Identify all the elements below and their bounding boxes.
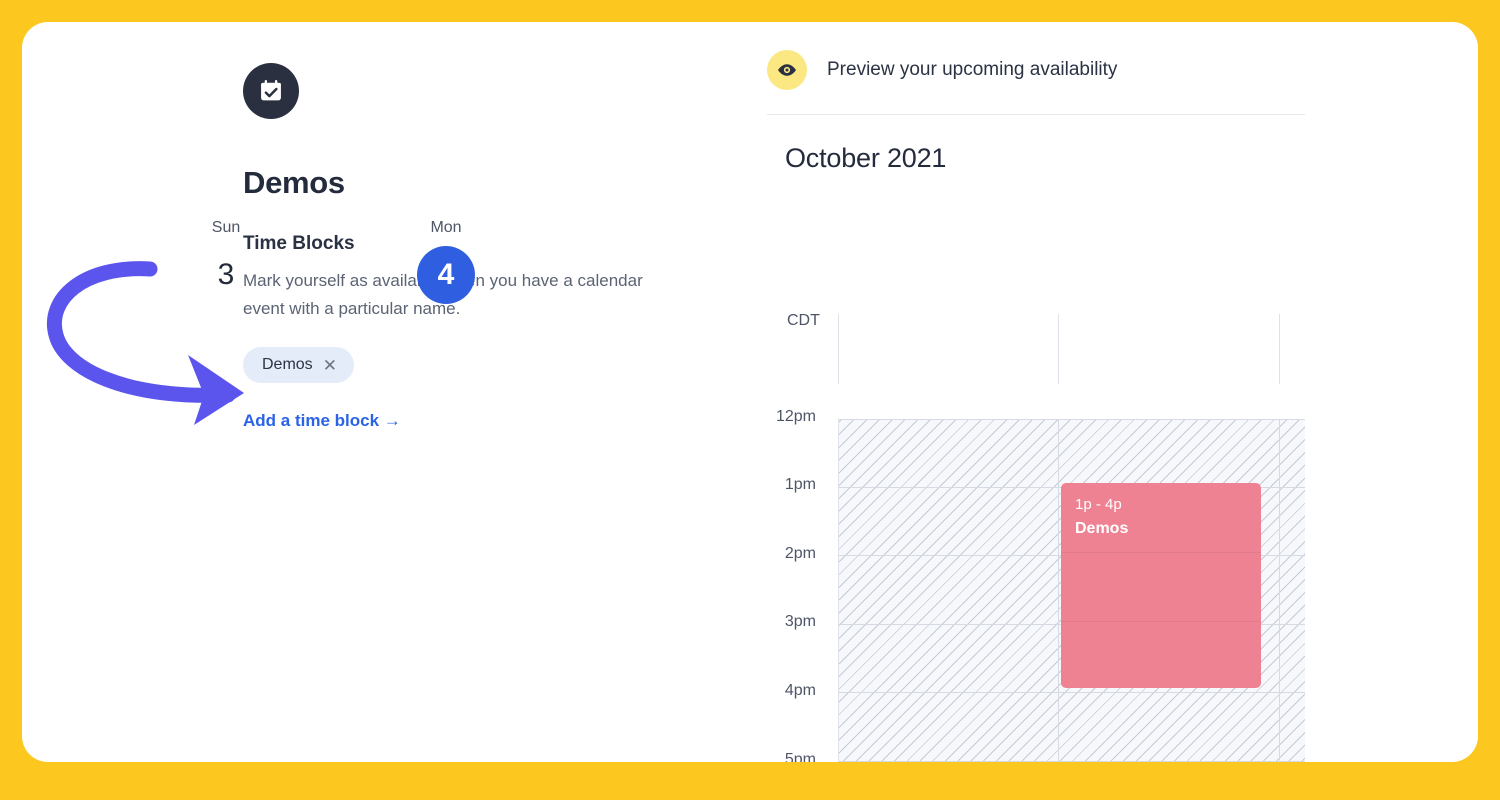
timezone-label: CDT [787,312,820,330]
availability-preview-panel: Preview your upcoming availability Octob… [744,50,1324,174]
time-label-12pm: 12pm [744,408,816,426]
demos-tag[interactable]: Demos ✕ [243,347,354,383]
day-column-sun[interactable]: Sun 3 [116,219,336,304]
tag-list: Demos ✕ [243,347,673,383]
event-title: Demos [1075,518,1247,540]
event-hour-rule [1061,621,1261,622]
hour-line-12pm [838,419,1305,420]
app-card: Demos Time Blocks Mark yourself as avail… [22,22,1478,762]
preview-label: Preview your upcoming availability [827,59,1117,81]
month-title: October 2021 [785,143,1324,174]
time-label-2pm: 2pm [744,545,816,563]
page-title: Demos [243,165,673,201]
event-time: 1p - 4p [1075,495,1247,515]
event-hour-rule [1061,552,1261,553]
grid-head-rule [1058,314,1059,384]
grid-column-line [1279,419,1280,762]
time-label-5pm: 5pm [744,751,816,762]
day-name: Sun [116,219,336,237]
time-label-3pm: 3pm [744,613,816,631]
calendar-grid: 1p - 4p Demos CDT 12pm 1pm 2pm 3pm 4pm 5… [744,312,1344,762]
grid-head-rule [838,314,839,384]
yellow-frame: Demos Time Blocks Mark yourself as avail… [0,0,1500,800]
hour-line-5pm [838,761,1305,762]
preview-header: Preview your upcoming availability [744,50,1324,90]
tag-label: Demos [262,356,313,374]
day-column-mon[interactable]: Mon 4 [336,219,556,304]
time-label-1pm: 1pm [744,476,816,494]
hour-line-4pm [838,692,1305,693]
eye-icon [767,50,807,90]
grid-head-rule [1279,314,1280,384]
time-label-4pm: 4pm [744,682,816,700]
day-number-today: 4 [417,246,475,304]
add-time-block-link[interactable]: Add a time block → [243,411,401,431]
day-number: 3 [116,246,336,304]
calendar-check-icon [243,63,299,119]
calendar-event-demos[interactable]: 1p - 4p Demos [1061,483,1261,688]
header-divider [767,114,1305,115]
grid-column-line [1058,419,1059,762]
close-icon[interactable]: ✕ [323,357,337,374]
calendar-day-header: Sun 3 Mon 4 [116,219,586,311]
day-name: Mon [336,219,556,237]
